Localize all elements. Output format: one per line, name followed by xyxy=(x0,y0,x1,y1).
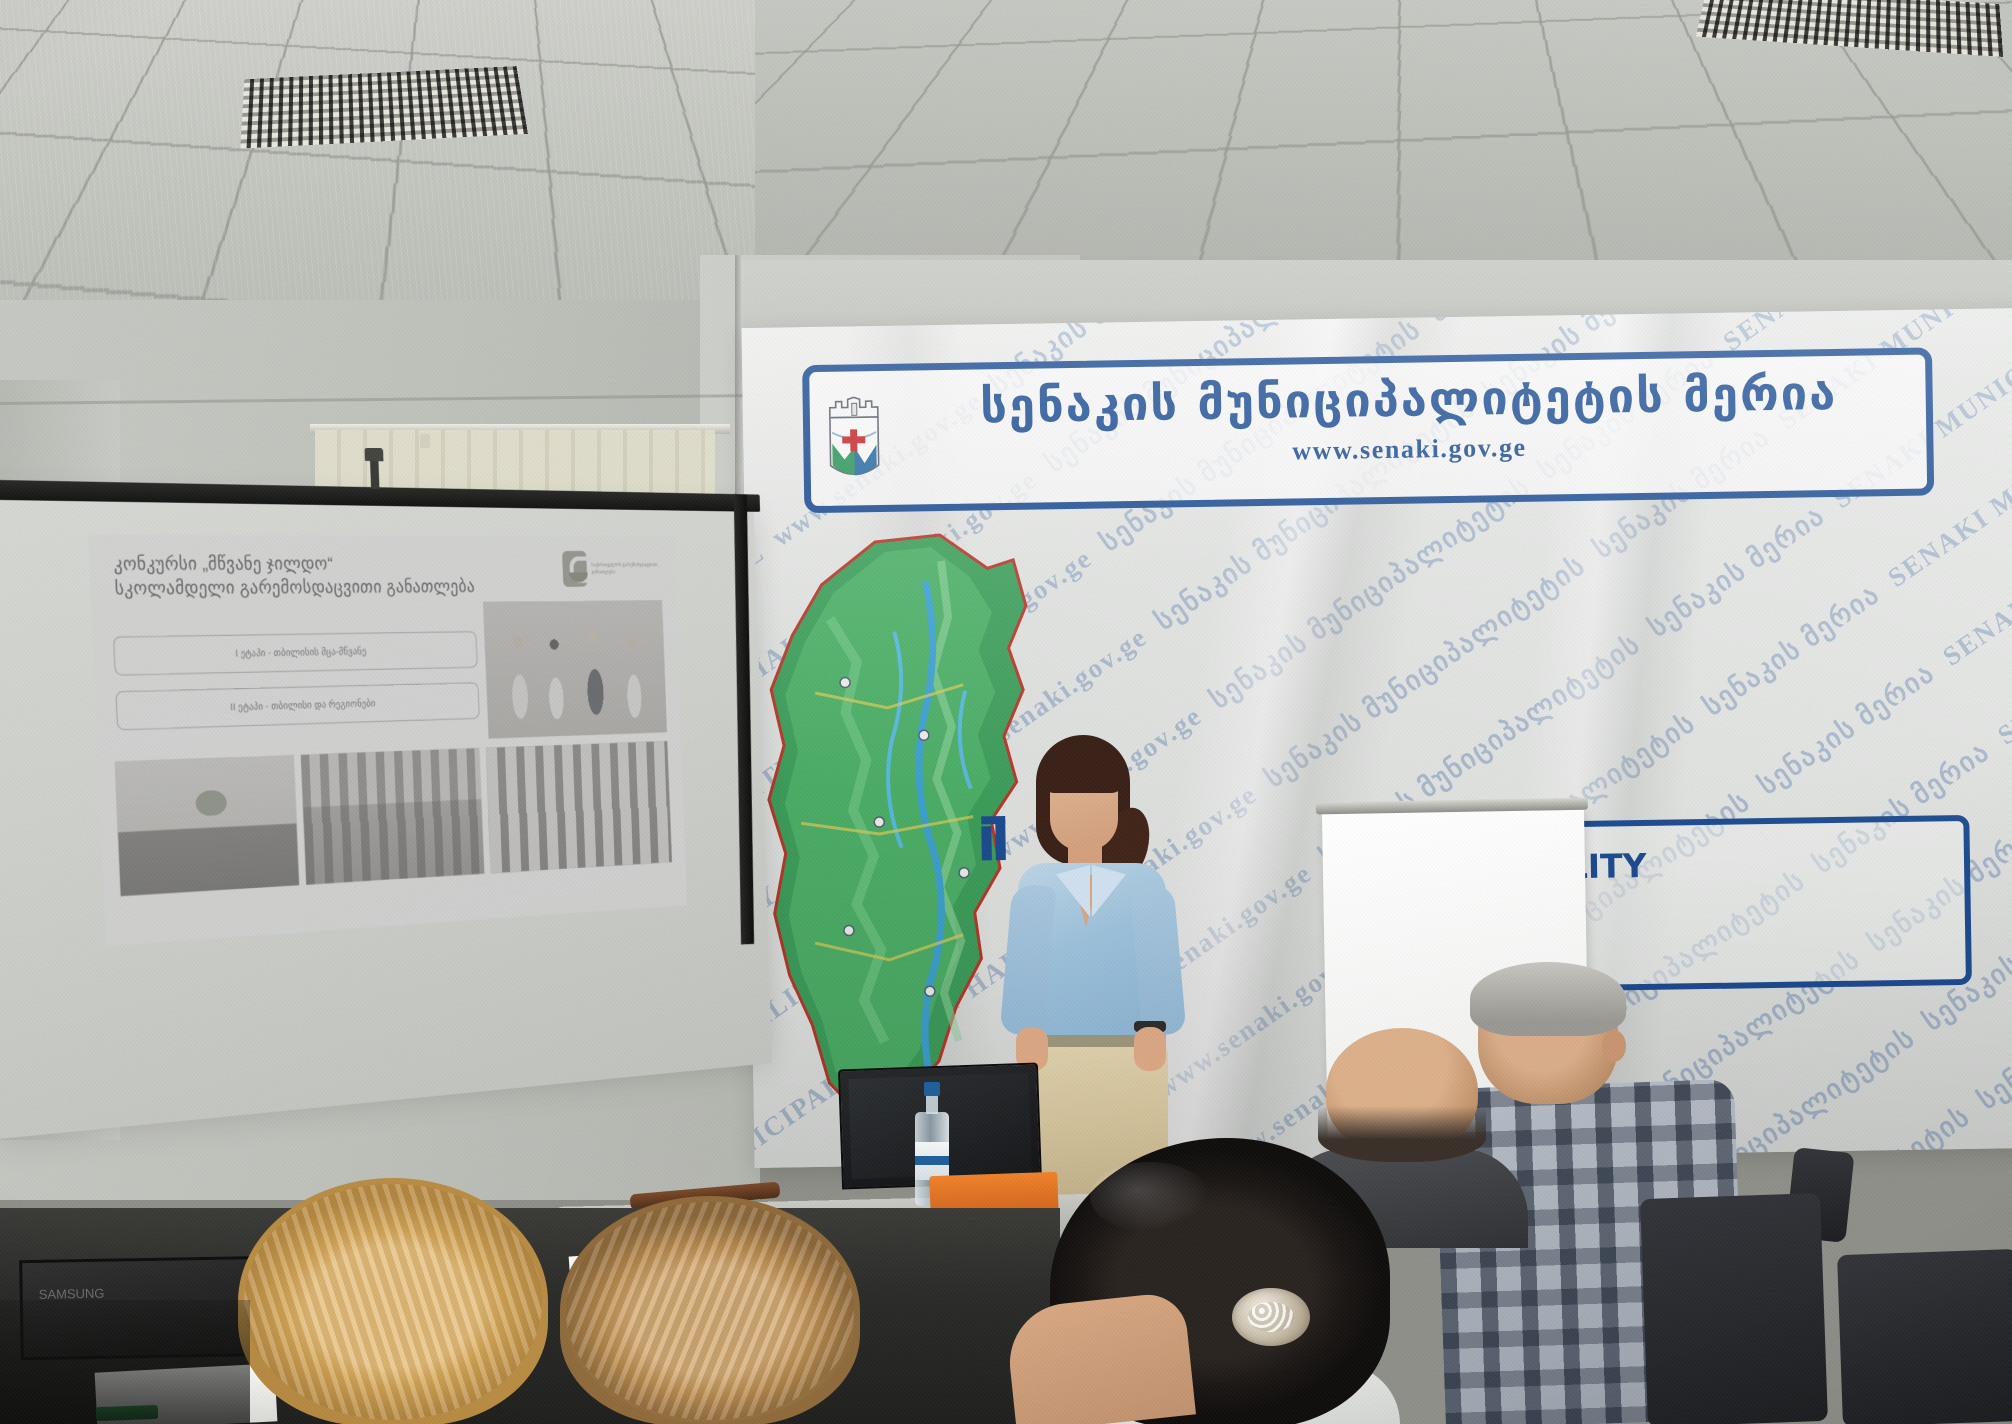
decorative-hair-clip xyxy=(1232,1288,1310,1346)
slide-organization-logo: საქართველოს გარემოსდაცვითი განათლება xyxy=(562,549,663,589)
senaki-coat-of-arms xyxy=(823,387,891,500)
slide-title: კონკურსი „მწვანე ჯილდო“ სკოლამდელი გარემ… xyxy=(113,552,518,601)
slide-logo-mark xyxy=(562,551,588,587)
banner-url: www.senaki.gov.ge xyxy=(918,427,1900,472)
slide-photo-office-plant xyxy=(115,755,299,896)
slide-stage-box-2: II ეტაპი - თბილისი და რეგიონები xyxy=(115,682,479,730)
light-brown-hair-texture xyxy=(566,1202,854,1420)
projection-screen-bracket xyxy=(370,457,380,489)
slide-photo-plant xyxy=(115,755,299,896)
slide-photo-audience-rows xyxy=(301,748,485,885)
slide-photo-audience xyxy=(301,748,485,885)
slide-photo-people xyxy=(483,600,667,738)
grey-man-ear xyxy=(1602,1030,1626,1062)
chair-back-right[interactable] xyxy=(1640,1193,1828,1424)
projection-screen: კონკურსი „მწვანე ჯილდო“ სკოლამდელი გარემ… xyxy=(0,500,772,1139)
banner-text-block: სენაკის მუნიციპალიტეტის მერია www.senaki… xyxy=(917,367,1900,472)
grey-man-hair xyxy=(1470,962,1626,1036)
foreground-shadow-left xyxy=(0,1300,250,1424)
bottle-cap xyxy=(924,1082,940,1096)
photo-scene: სენაკის მერია SENAKI MUNICIPALITY CITY H… xyxy=(0,0,2012,1424)
slide-title-line1: კონკურსი „მწვანე ჯილდო“ xyxy=(113,552,517,577)
audience-light-brown-haired-woman xyxy=(560,1196,860,1424)
slide-stage-box-1: I ეტაპი - თბილისის მცა-მწვანე xyxy=(113,631,478,675)
slide-photo-certificate-group xyxy=(486,741,672,873)
audience-blonde-woman xyxy=(238,1178,548,1424)
banner-title-plate: სენაკის მუნიციპალიტეტის მერია www.senaki… xyxy=(802,347,1934,513)
blonde-hair-texture xyxy=(244,1184,542,1420)
slide-photo-award-ceremony xyxy=(483,600,667,738)
bottle-label-stripe xyxy=(915,1156,949,1165)
bottle-label xyxy=(915,1142,949,1180)
chair-back-far-right[interactable] xyxy=(1837,1249,2012,1424)
slide-photo-group-row xyxy=(486,741,672,873)
slide-title-line2: სკოლამდელი გარემოსდაცვითი განათლება xyxy=(114,575,518,601)
presenter-hair-front xyxy=(1044,751,1124,793)
presentation-slide: კონკურსი „მწვანე ჯილდო“ სკოლამდელი გარემ… xyxy=(88,535,687,947)
slide-logo-words: საქართველოს გარემოსდაცვითი განათლება xyxy=(591,561,662,576)
hair-highlight xyxy=(1090,1162,1210,1232)
presenter-hand-right xyxy=(1134,1027,1166,1071)
banner-title: სენაკის მუნიციპალიტეტის მერია xyxy=(917,367,1900,434)
